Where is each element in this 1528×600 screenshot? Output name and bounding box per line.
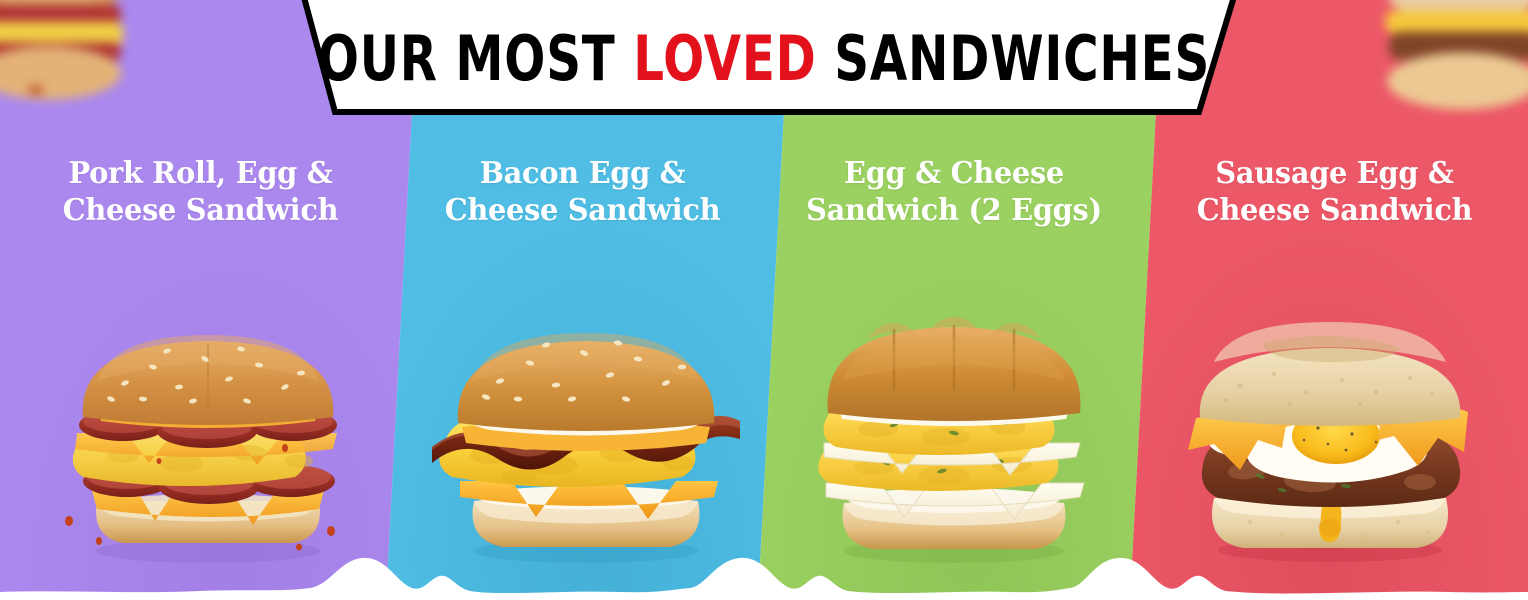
product-card-sausage[interactable]: Sausage Egg & Cheese Sandwich	[1140, 120, 1528, 600]
egg-cheese-2-eggs-sandwich-image	[794, 305, 1114, 565]
promotional-banner: OUR MOST LOVED SANDWICHES Pork Roll, Egg…	[0, 0, 1528, 600]
product-title-line2: Cheese Sandwich	[1196, 193, 1472, 228]
product-card-bacon[interactable]: Bacon Egg & Cheese Sandwich	[392, 120, 772, 600]
pork-roll-egg-cheese-sandwich-image	[53, 315, 363, 565]
product-card-egg-cheese[interactable]: Egg & Cheese Sandwich (2 Eggs)	[764, 120, 1144, 600]
page-title: OUR MOST LOVED SANDWICHES	[0, 0, 1528, 118]
bacon-egg-cheese-sandwich-image	[426, 305, 746, 565]
title-highlight-loved: LOVED	[633, 22, 816, 95]
product-title-line1: Sausage Egg &	[1215, 156, 1453, 191]
title-part-2: SANDWICHES	[817, 22, 1210, 95]
product-card-pork-roll[interactable]: Pork Roll, Egg & Cheese Sandwich	[0, 120, 400, 600]
product-title-egg-cheese: Egg & Cheese Sandwich (2 Eggs)	[806, 156, 1102, 230]
product-title-sausage: Sausage Egg & Cheese Sandwich	[1196, 156, 1472, 230]
product-title-line1: Egg & Cheese	[844, 156, 1064, 191]
product-title-line2: Cheese Sandwich	[62, 193, 338, 228]
title-part-1: OUR MOST	[318, 22, 633, 95]
product-title-pork-roll: Pork Roll, Egg & Cheese Sandwich	[62, 156, 338, 230]
product-title-bacon: Bacon Egg & Cheese Sandwich	[444, 156, 720, 230]
product-title-line1: Pork Roll, Egg &	[68, 156, 332, 191]
product-title-line1: Bacon Egg &	[479, 156, 685, 191]
product-title-line2: Sandwich (2 Eggs)	[806, 193, 1102, 228]
product-title-line2: Cheese Sandwich	[444, 193, 720, 228]
sausage-egg-cheese-sandwich-image	[1170, 300, 1490, 565]
